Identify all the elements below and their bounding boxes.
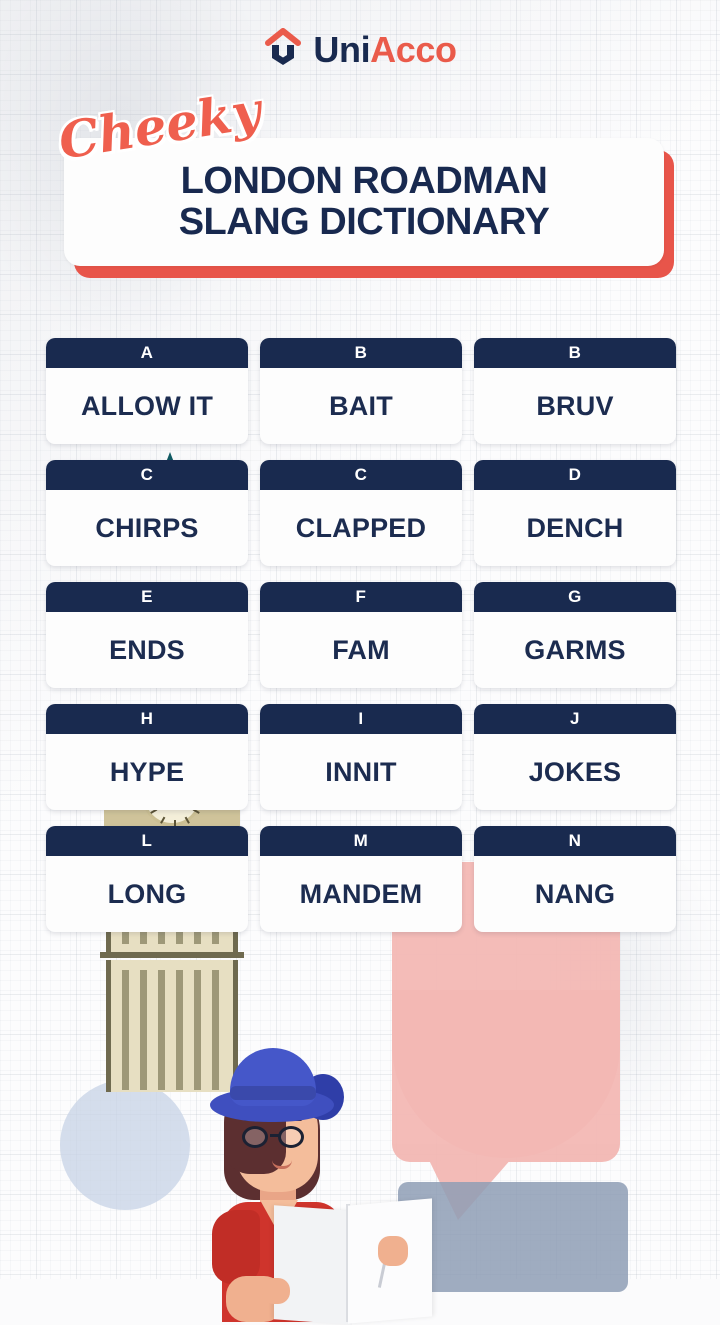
card-letter-header: M xyxy=(260,826,462,856)
card-letter-header: E xyxy=(46,582,248,612)
card-word: INNIT xyxy=(325,757,397,788)
card-letter: A xyxy=(141,343,154,363)
card-word: NANG xyxy=(535,879,615,910)
card-letter-header: L xyxy=(46,826,248,856)
slang-card-mandem[interactable]: MMANDEM xyxy=(260,826,462,932)
card-letter: N xyxy=(569,831,582,851)
slang-card-clapped[interactable]: CCLAPPED xyxy=(260,460,462,566)
slang-card-grid: AALLOW ITBBAITBBRUVCCHIRPSCCLAPPEDDDENCH… xyxy=(46,338,674,932)
card-body: LONG xyxy=(46,856,248,932)
card-word: LONG xyxy=(108,879,187,910)
card-letter-header: D xyxy=(474,460,676,490)
card-letter: B xyxy=(355,343,368,363)
hand-left xyxy=(262,1278,290,1304)
slang-card-hype[interactable]: HHYPE xyxy=(46,704,248,810)
card-word: JOKES xyxy=(529,757,622,788)
slang-card-fam[interactable]: FFAM xyxy=(260,582,462,688)
card-letter: C xyxy=(355,465,368,485)
card-word: CLAPPED xyxy=(296,513,426,544)
slang-card-ends[interactable]: EENDS xyxy=(46,582,248,688)
slang-card-chirps[interactable]: CCHIRPS xyxy=(46,460,248,566)
brand-logo: UniAcco xyxy=(0,28,720,72)
card-letter: E xyxy=(141,587,153,607)
card-letter-header: I xyxy=(260,704,462,734)
slang-card-innit[interactable]: IINNIT xyxy=(260,704,462,810)
card-word: BAIT xyxy=(329,391,393,422)
card-letter-header: A xyxy=(46,338,248,368)
slang-card-dench[interactable]: DDENCH xyxy=(474,460,676,566)
card-body: INNIT xyxy=(260,734,462,810)
card-letter: D xyxy=(569,465,582,485)
card-word: GARMS xyxy=(524,635,626,666)
card-letter-header: C xyxy=(260,460,462,490)
card-letter-header: J xyxy=(474,704,676,734)
card-letter-header: C xyxy=(46,460,248,490)
card-body: FAM xyxy=(260,612,462,688)
card-letter: B xyxy=(569,343,582,363)
card-word: FAM xyxy=(332,635,390,666)
title-card: LONDON ROADMAN SLANG DICTIONARY xyxy=(64,138,664,266)
card-word: BRUV xyxy=(536,391,613,422)
card-letter: G xyxy=(568,587,582,607)
brand-name-uni: Uni xyxy=(313,29,370,70)
card-body: BAIT xyxy=(260,368,462,444)
card-letter: I xyxy=(358,709,363,729)
card-letter: F xyxy=(356,587,367,607)
brand-wordmark: UniAcco xyxy=(313,32,456,68)
card-word: HYPE xyxy=(110,757,184,788)
card-body: GARMS xyxy=(474,612,676,688)
card-body: MANDEM xyxy=(260,856,462,932)
card-letter-header: N xyxy=(474,826,676,856)
slang-card-nang[interactable]: NNANG xyxy=(474,826,676,932)
card-body: HYPE xyxy=(46,734,248,810)
slang-card-bruv[interactable]: BBRUV xyxy=(474,338,676,444)
slang-card-garms[interactable]: GGARMS xyxy=(474,582,676,688)
brand-name-acco: Acco xyxy=(370,29,456,70)
card-body: ALLOW IT xyxy=(46,368,248,444)
card-letter-header: G xyxy=(474,582,676,612)
card-letter-header: B xyxy=(474,338,676,368)
card-body: NANG xyxy=(474,856,676,932)
card-word: ENDS xyxy=(109,635,185,666)
card-word: CHIRPS xyxy=(95,513,198,544)
card-body: ENDS xyxy=(46,612,248,688)
card-letter: H xyxy=(141,709,154,729)
uniacco-house-hexagon-logo-icon xyxy=(263,28,303,72)
slang-card-jokes[interactable]: JJOKES xyxy=(474,704,676,810)
slang-card-long[interactable]: LLONG xyxy=(46,826,248,932)
card-letter: C xyxy=(141,465,154,485)
card-body: CLAPPED xyxy=(260,490,462,566)
card-word: MANDEM xyxy=(300,879,423,910)
card-letter: L xyxy=(142,831,153,851)
card-body: CHIRPS xyxy=(46,490,248,566)
slang-card-allow-it[interactable]: AALLOW IT xyxy=(46,338,248,444)
card-body: JOKES xyxy=(474,734,676,810)
card-body: BRUV xyxy=(474,368,676,444)
slang-card-bait[interactable]: BBAIT xyxy=(260,338,462,444)
card-word: DENCH xyxy=(526,513,623,544)
card-word: ALLOW IT xyxy=(81,391,213,422)
card-letter-header: F xyxy=(260,582,462,612)
card-letter: M xyxy=(354,831,369,851)
page-title: LONDON ROADMAN SLANG DICTIONARY xyxy=(179,161,550,242)
card-letter: J xyxy=(570,709,580,729)
title-block: LONDON ROADMAN SLANG DICTIONARY Cheeky xyxy=(64,138,664,266)
card-letter-header: B xyxy=(260,338,462,368)
forearm xyxy=(226,1276,284,1322)
card-body: DENCH xyxy=(474,490,676,566)
card-letter-header: H xyxy=(46,704,248,734)
